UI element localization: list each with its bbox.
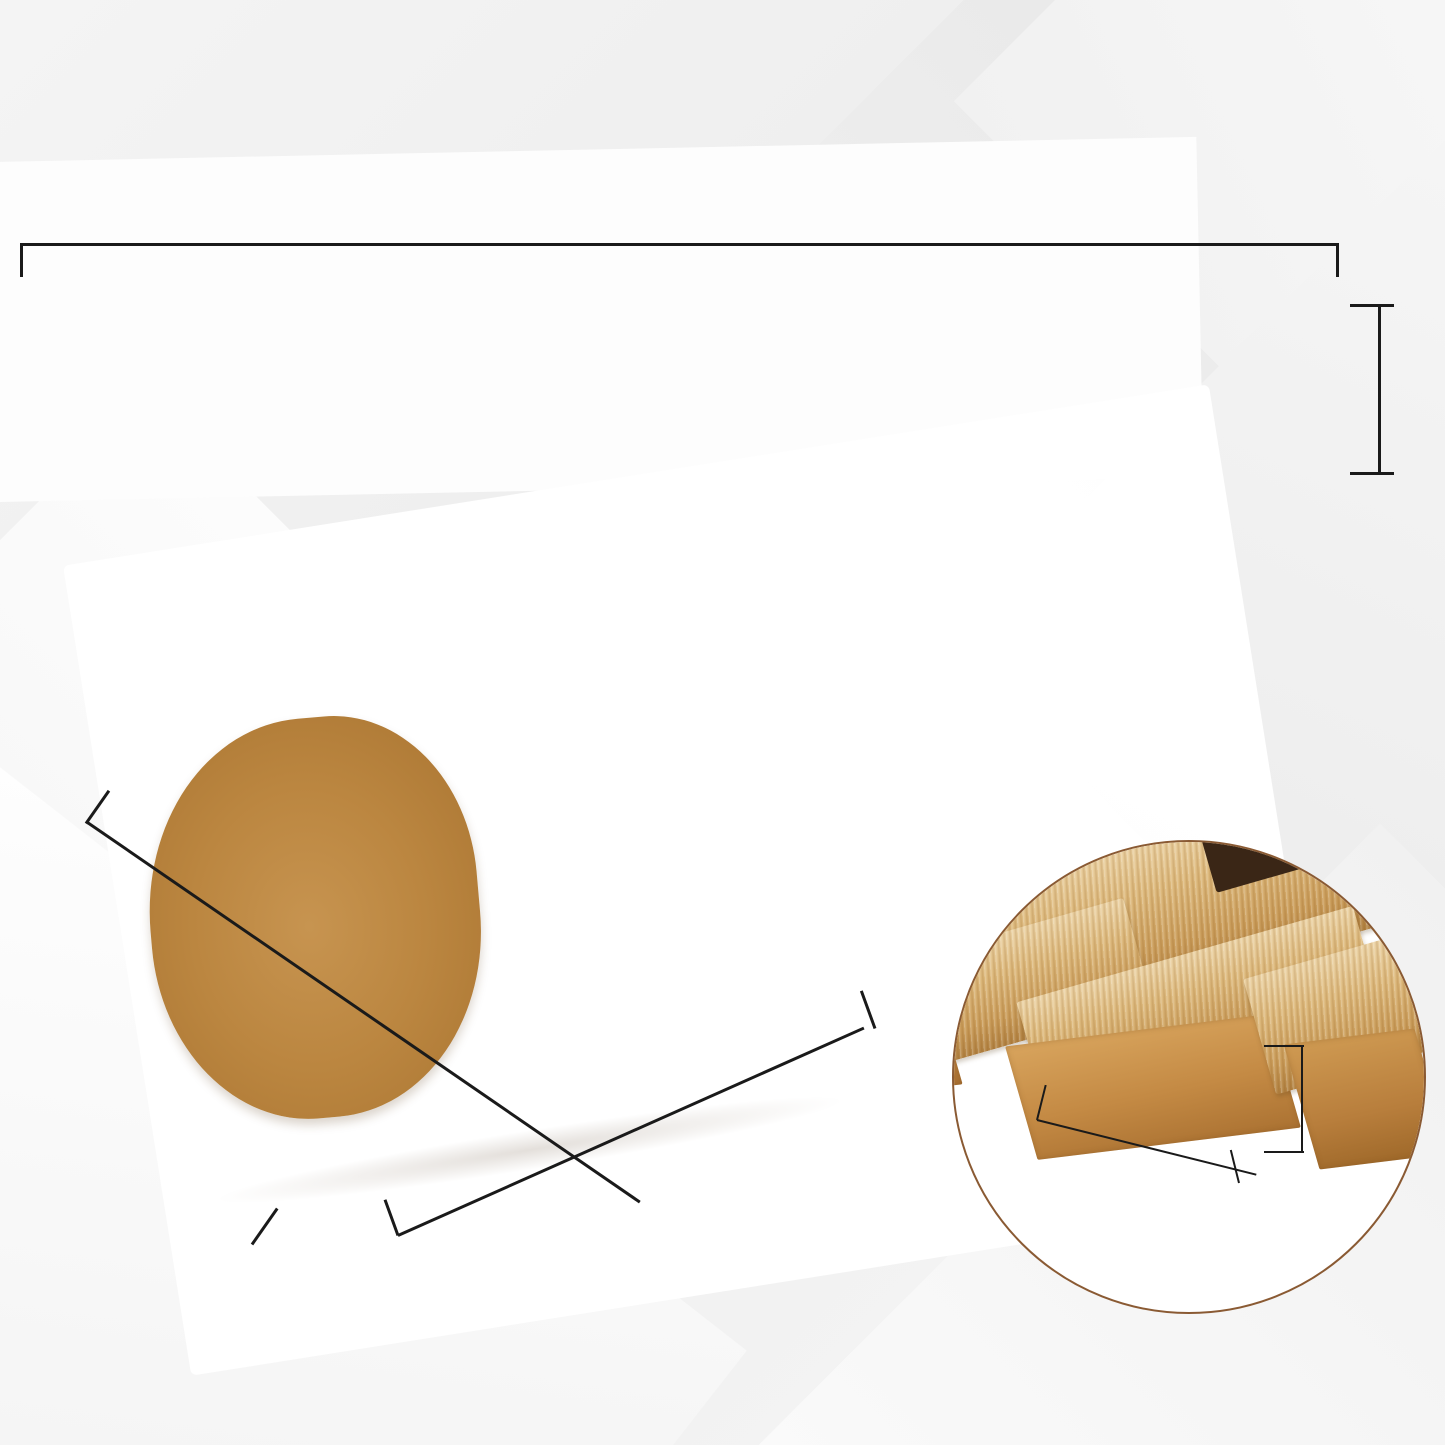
detail-tick-thickness-top (1264, 1045, 1304, 1047)
detail-board-right-face (1284, 1028, 1426, 1169)
rolled-mat-figure (150, 570, 920, 1220)
dimension-tick-top (1350, 304, 1394, 307)
dimension-tick-bottom (1350, 472, 1394, 475)
detail-tick-thickness-bottom (1264, 1151, 1304, 1153)
detail-inset-circle (952, 840, 1426, 1314)
dimension-tick-left (20, 243, 23, 277)
dimension-line-width (1378, 304, 1381, 473)
dimension-line-length (20, 243, 1339, 246)
flat-mat-figure (18, 296, 1340, 478)
product-parameters-infographic (0, 0, 1445, 1445)
detail-line-thickness (1301, 1045, 1303, 1153)
dimension-tick-right (1336, 243, 1339, 277)
